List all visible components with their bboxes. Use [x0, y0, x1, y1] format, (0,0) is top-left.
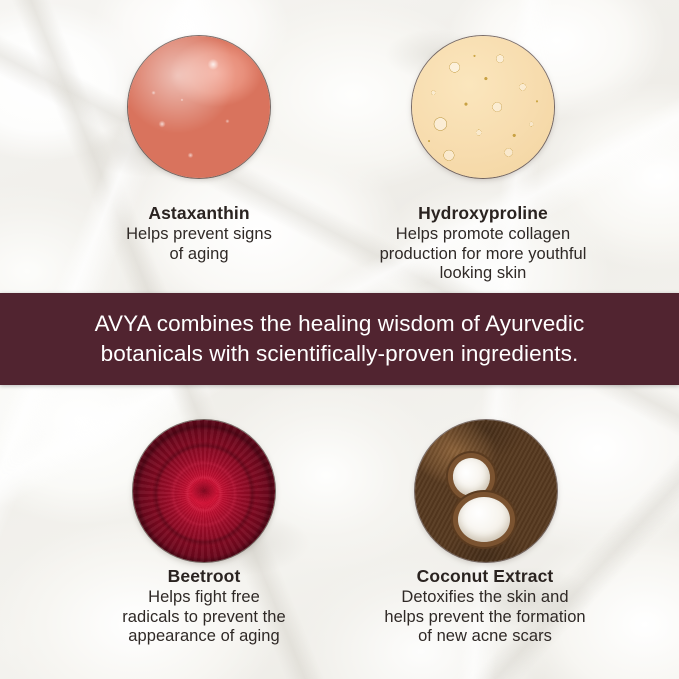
astaxanthin-description: Helps prevent signs of aging [84, 225, 314, 264]
coconut-title: Coconut Extract [358, 566, 612, 586]
coconut-flesh-group [415, 420, 557, 562]
astaxanthin-image [128, 36, 270, 178]
droplet-highlights [128, 36, 270, 178]
beetroot-description: Helps fight free radicals to prevent the… [88, 588, 320, 646]
hydroxyproline-title: Hydroxyproline [358, 203, 608, 223]
astaxanthin-caption: Astaxanthin Helps prevent signs of aging [84, 203, 314, 264]
ingredients-infographic: Astaxanthin Helps prevent signs of aging… [0, 0, 679, 679]
hydroxyproline-caption: Hydroxyproline Helps promote collagen pr… [358, 203, 608, 283]
coconut-image [415, 420, 557, 562]
coconut-half-small [448, 454, 495, 502]
hydroxyproline-image [412, 36, 554, 178]
coconut-description: Detoxifies the skin and helps prevent th… [358, 588, 612, 646]
beetroot-title: Beetroot [88, 566, 320, 586]
beetroot-image [133, 420, 275, 562]
beetroot-rings-overlay [133, 420, 275, 562]
tagline-text: AVYA combines the healing wisdom of Ayur… [73, 309, 607, 369]
astaxanthin-title: Astaxanthin [84, 203, 314, 223]
tagline-banner: AVYA combines the healing wisdom of Ayur… [0, 293, 679, 385]
bubble-overlay [412, 36, 554, 178]
coconut-caption: Coconut Extract Detoxifies the skin and … [358, 566, 612, 646]
hydroxyproline-description: Helps promote collagen production for mo… [358, 225, 608, 283]
coconut-half-large [458, 497, 511, 542]
beetroot-caption: Beetroot Helps fight free radicals to pr… [88, 566, 320, 646]
